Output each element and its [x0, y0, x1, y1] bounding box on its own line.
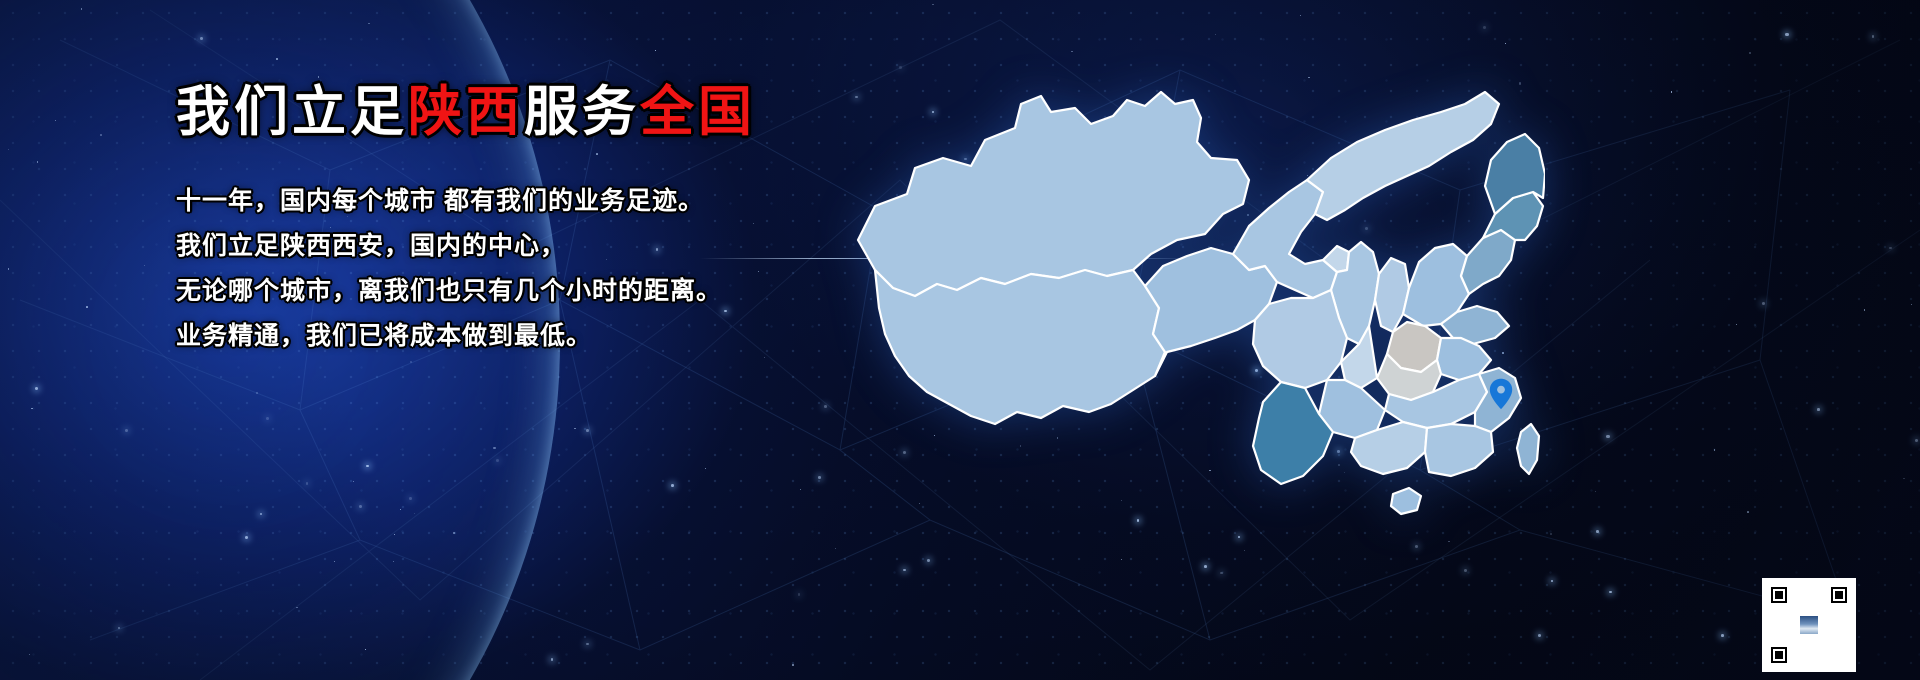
province-liaoning: [1461, 230, 1515, 294]
province-taiwan: [1517, 424, 1539, 474]
headline-segment-1: 陕西: [408, 82, 524, 142]
headline-segment-3: 全国: [640, 82, 756, 142]
headline: 我们立足陕西服务全国: [176, 84, 876, 141]
copy-block: 我们立足陕西服务全国 十一年，国内每个城市 都有我们的业务足迹。我们立足陕西西安…: [176, 84, 876, 359]
headline-segment-0: 我们立足: [176, 82, 408, 142]
province-tibet: [875, 270, 1165, 424]
province-inner-mongolia: [1307, 92, 1499, 220]
body-line-2: 无论哪个城市，离我们也只有几个小时的距离。: [176, 269, 876, 314]
province-sichuan: [1253, 290, 1347, 388]
headline-segment-2: 服务: [524, 82, 640, 142]
province-shanxi: [1375, 258, 1409, 332]
province-yunnan: [1253, 382, 1333, 484]
map-pin-icon[interactable]: [1489, 378, 1513, 410]
promo-banner: 我们立足陕西服务全国 十一年，国内每个城市 都有我们的业务足迹。我们立足陕西西安…: [0, 0, 1920, 680]
province-hainan: [1391, 488, 1421, 514]
wechat-logo-icon: [1798, 614, 1820, 636]
province-guangdong: [1425, 424, 1493, 476]
qr-code-icon[interactable]: [1762, 578, 1856, 672]
body-text: 十一年，国内每个城市 都有我们的业务足迹。我们立足陕西西安，国内的中心，无论哪个…: [176, 179, 876, 359]
body-line-0: 十一年，国内每个城市 都有我们的业务足迹。: [176, 179, 876, 224]
body-line-1: 我们立足陕西西安，国内的中心，: [176, 224, 876, 269]
body-line-3: 业务精通，我们已将成本做到最低。: [176, 314, 876, 359]
china-map: [845, 8, 1545, 568]
